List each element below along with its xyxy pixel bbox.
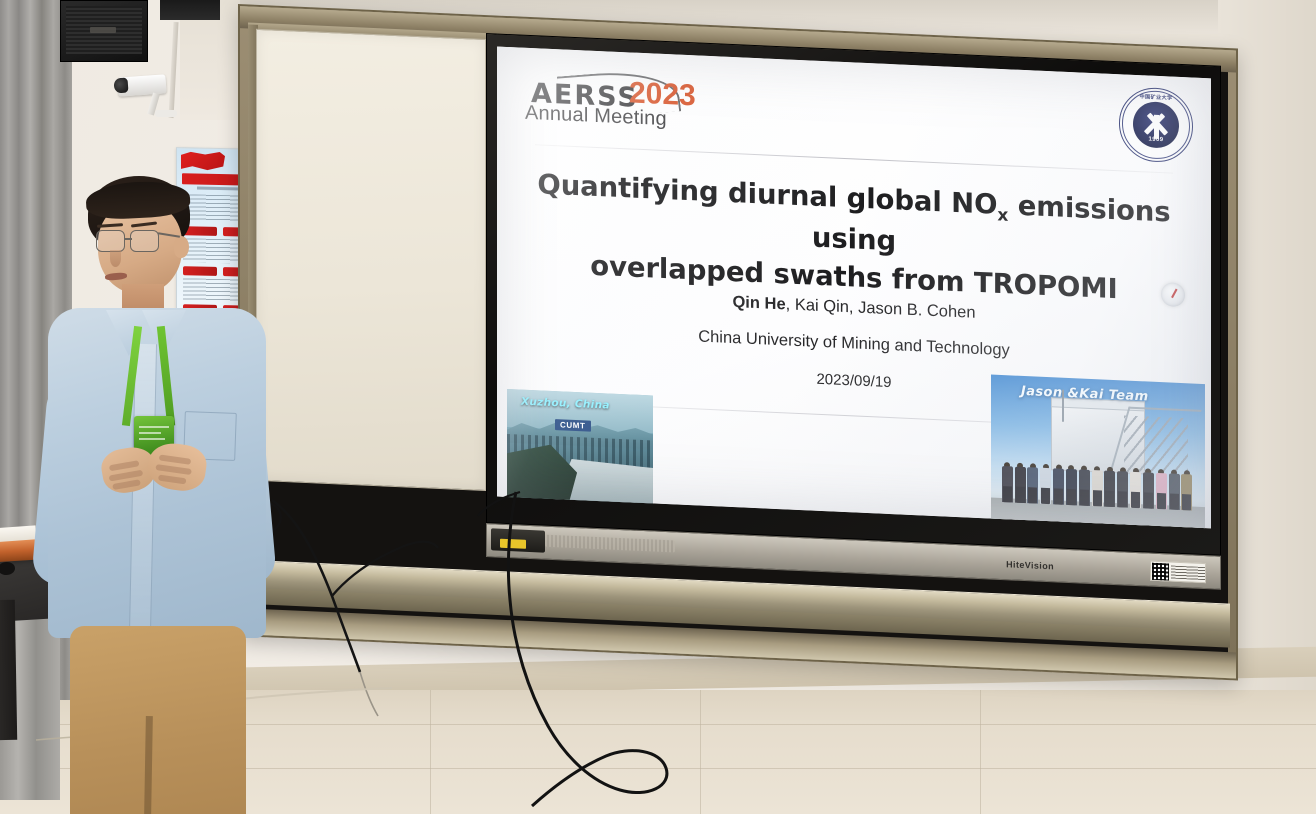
presenter: UA	[36, 176, 266, 814]
team-photo-people	[991, 440, 1205, 511]
flag-icon	[181, 151, 225, 172]
pick-stem-icon	[1154, 115, 1159, 139]
title-subscript: x	[997, 205, 1008, 225]
interactive-display[interactable]: AERSS 2023 Annual Meeting 中国矿业大学 1909	[486, 33, 1221, 556]
display-vent	[545, 535, 675, 553]
port-label-sticker	[500, 539, 526, 549]
author-lead: Qin He	[732, 293, 785, 313]
team-photo-caption: Jason &Kai Team	[1021, 384, 1149, 405]
speaker-mount	[160, 0, 220, 20]
sliding-whiteboard-panel[interactable]	[256, 29, 486, 491]
slide-divider-top	[535, 144, 1173, 173]
qr-code-icon	[1152, 562, 1169, 580]
presentation-slide: AERSS 2023 Annual Meeting 中国矿业大学 1909	[497, 47, 1211, 529]
camera-lens-icon	[113, 78, 128, 94]
team-photo: Jason &Kai Team	[991, 375, 1205, 529]
presentation-room-scene: AERSS 2023 Annual Meeting 中国矿业大学 1909	[0, 0, 1316, 814]
sensor-needle-icon	[1171, 289, 1177, 298]
aerss-conference-logo: AERSS 2023 Annual Meeting	[525, 64, 695, 134]
title-line1-pre: Quantifying diurnal global NO	[537, 168, 997, 220]
qr-sticker-text	[1171, 565, 1205, 580]
aerss-logo-subtitle: Annual Meeting	[525, 102, 667, 131]
display-qr-sticker	[1150, 561, 1206, 583]
podium-leg	[0, 600, 17, 740]
camera-mount	[155, 110, 177, 117]
glasses-bridge-icon	[124, 238, 132, 240]
cumt-university-seal: 中国矿业大学 1909	[1119, 86, 1193, 163]
presenter-pants	[70, 626, 246, 814]
speaker-logo	[90, 27, 116, 33]
glasses-lens-right-icon	[130, 230, 159, 252]
screen-sensor-dot	[1161, 282, 1185, 307]
display-port-panel[interactable]	[491, 528, 545, 552]
xuzhou-photo: Xuzhou, China CUMT	[507, 389, 653, 508]
presenter-nose	[110, 250, 121, 267]
display-brand-label: HiteVision	[1006, 559, 1054, 571]
glasses-lens-left-icon	[96, 230, 125, 252]
presenter-ear	[174, 236, 189, 258]
display-screen[interactable]: AERSS 2023 Annual Meeting 中国矿业大学 1909	[497, 47, 1211, 529]
xuzhou-photo-badge: CUMT	[555, 419, 591, 432]
